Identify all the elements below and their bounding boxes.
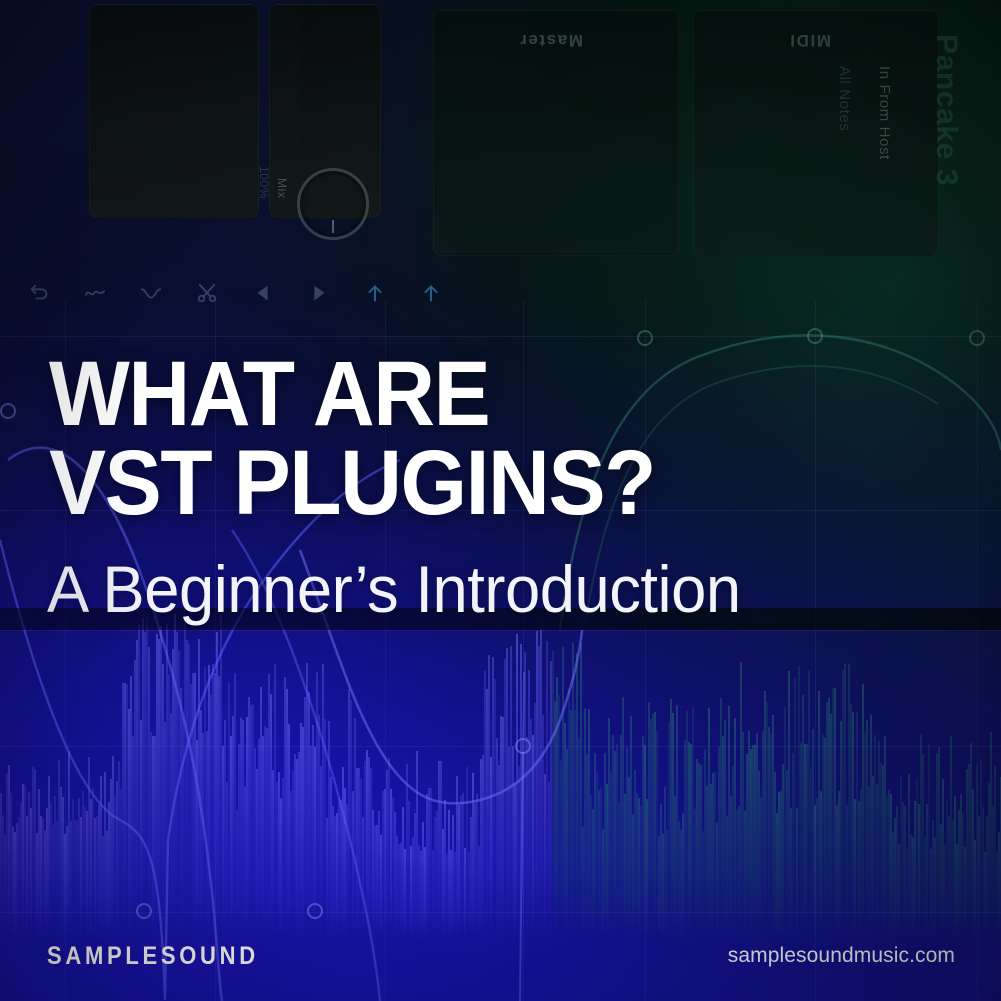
page-title: WHAT ARE VST PLUGINS?: [49, 350, 867, 528]
headline-line-2: VST PLUGINS?: [49, 439, 867, 528]
headline-line-1: WHAT ARE: [49, 350, 867, 439]
brand-logo: SAMPLESOUND: [47, 942, 259, 971]
poster-content: WHAT ARE VST PLUGINS? A Beginner’s Intro…: [0, 0, 1001, 1001]
page-subtitle: A Beginner’s Introduction: [47, 556, 741, 622]
poster-canvas: In From Host All Notes Mix 100% MIDI Mas…: [0, 0, 1001, 1001]
website-url[interactable]: samplesoundmusic.com: [728, 944, 955, 968]
